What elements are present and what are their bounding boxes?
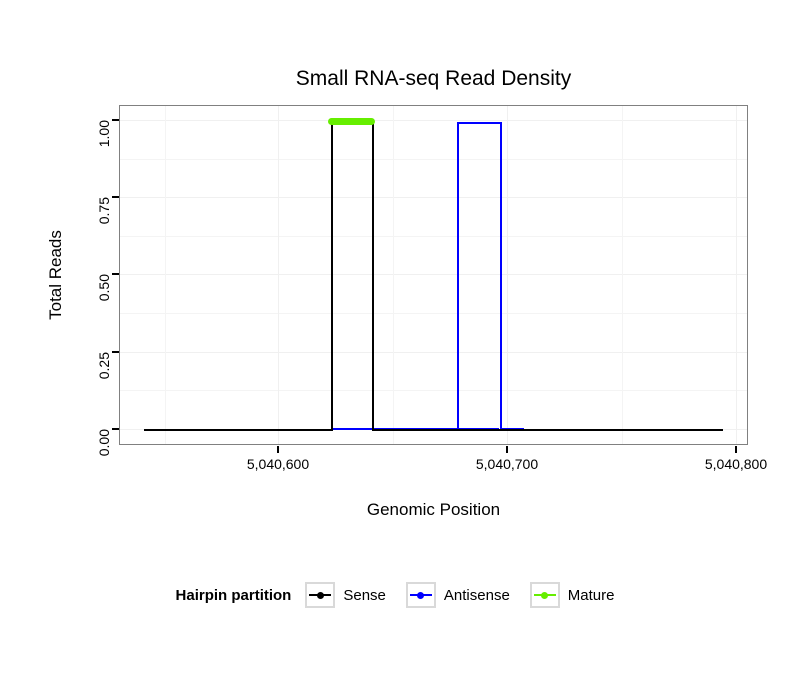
antisense-fall-edge	[500, 122, 502, 430]
gridline-x-minor-5040550	[165, 106, 166, 444]
sense-baseline-right	[372, 429, 723, 431]
x-axis-title: Genomic Position	[119, 500, 748, 520]
chart-legend: Hairpin partition Sense Antisense Mature	[0, 582, 810, 608]
xtick-mark-2	[735, 446, 737, 453]
legend-title: Hairpin partition	[176, 587, 292, 604]
gridline-y-1.00	[120, 120, 747, 121]
gridline-x-minor-5040650	[393, 106, 394, 444]
sense-fall-edge	[372, 121, 374, 431]
xtick-mark-0	[277, 446, 279, 453]
gridline-y-minor-0.125	[120, 390, 747, 391]
ytick-label-0: 1.00	[96, 120, 112, 160]
antisense-rise-edge	[457, 122, 459, 430]
gridline-y-0.75	[120, 197, 747, 198]
xtick-label-2: 5,040,800	[705, 456, 767, 472]
legend-label-antisense: Antisense	[444, 587, 510, 604]
legend-item-mature[interactable]: Mature	[530, 582, 625, 608]
ytick-mark-3	[112, 351, 119, 353]
legend-item-antisense[interactable]: Antisense	[406, 582, 520, 608]
ytick-label-1: 0.75	[96, 197, 112, 237]
ytick-label-2: 0.50	[96, 274, 112, 314]
gridline-x-5040600	[278, 106, 279, 444]
gridline-x-5040800	[736, 106, 737, 444]
legend-label-mature: Mature	[568, 587, 615, 604]
mature-region-bar	[328, 118, 375, 125]
sense-baseline-left	[144, 429, 332, 431]
ytick-label-3: 0.25	[96, 352, 112, 392]
sense-rise-edge	[331, 121, 333, 431]
legend-point-mature	[541, 592, 548, 599]
ytick-mark-1	[112, 196, 119, 198]
legend-item-sense[interactable]: Sense	[305, 582, 396, 608]
ytick-mark-4	[112, 428, 119, 430]
chart-title: Small RNA-seq Read Density	[119, 66, 748, 92]
legend-point-sense	[317, 592, 324, 599]
legend-key-mature	[530, 582, 560, 608]
legend-point-antisense	[417, 592, 424, 599]
ytick-label-4: 0.00	[96, 429, 112, 469]
antisense-peak-top	[457, 122, 502, 124]
gridline-x-5040700	[507, 106, 508, 444]
plot-area	[120, 106, 747, 444]
legend-key-antisense	[406, 582, 436, 608]
ytick-mark-2	[112, 273, 119, 275]
chart-figure: Small RNA-seq Read Density	[0, 0, 810, 690]
xtick-mark-1	[506, 446, 508, 453]
xtick-label-0: 5,040,600	[247, 456, 309, 472]
gridline-y-minor-0.875	[120, 159, 747, 160]
gridline-y-0.50	[120, 274, 747, 275]
legend-key-sense	[305, 582, 335, 608]
legend-label-sense: Sense	[343, 587, 386, 604]
gridline-y-minor-0.375	[120, 313, 747, 314]
ytick-mark-0	[112, 119, 119, 121]
plot-panel	[119, 105, 748, 445]
gridline-y-0.25	[120, 352, 747, 353]
gridline-y-minor-0.625	[120, 236, 747, 237]
gridline-x-minor-5040750	[622, 106, 623, 444]
y-axis-title: Total Reads	[46, 105, 66, 445]
xtick-label-1: 5,040,700	[476, 456, 538, 472]
